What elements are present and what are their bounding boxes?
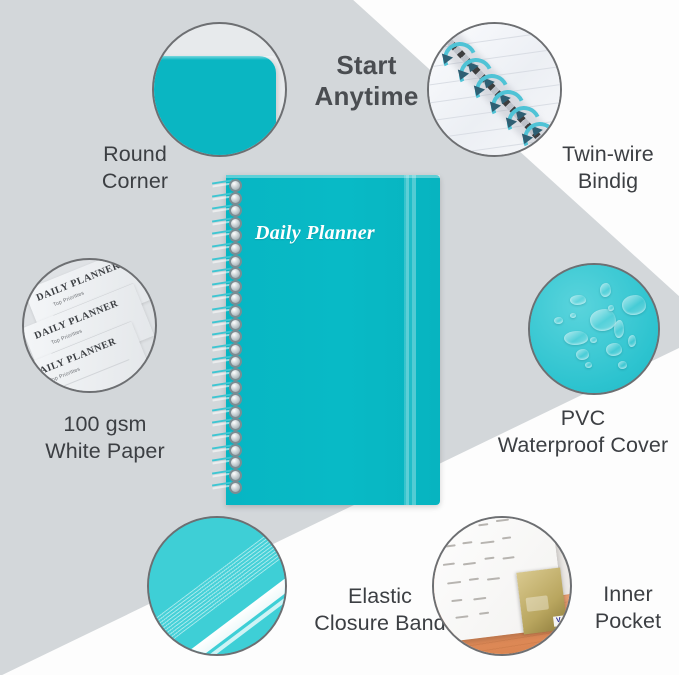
spiral-coil <box>212 255 242 264</box>
spiral-coil <box>212 456 242 465</box>
pocket-card-badge: V <box>553 616 564 627</box>
spiral-coil <box>212 368 242 377</box>
spiral-ring <box>229 330 242 343</box>
feature-label-pvc: PVC Waterproof Cover <box>487 405 679 459</box>
spiral-coil <box>212 204 242 213</box>
spiral-ring <box>229 368 242 381</box>
spiral-ring <box>229 280 242 293</box>
spiral-coil <box>212 343 242 352</box>
spiral-ring <box>229 431 242 444</box>
notebook-cover-title: Daily Planner <box>226 222 404 245</box>
feature-label-twin-wire: Twin-wire Bindig <box>540 141 676 195</box>
spiral-ring <box>229 267 242 280</box>
spiral-ring <box>229 318 242 331</box>
feature-label-pocket: Inner Pocket <box>578 581 678 635</box>
notebook-spiral-binding <box>212 179 242 501</box>
spiral-coil <box>212 267 242 276</box>
spiral-ring <box>229 469 242 482</box>
spiral-coil <box>212 381 242 390</box>
spiral-coil <box>212 192 242 201</box>
spiral-ring <box>229 406 242 419</box>
feature-circle-round-corner <box>152 22 287 157</box>
spiral-ring <box>229 292 242 305</box>
water-droplets-icon <box>530 265 658 393</box>
spiral-ring <box>229 418 242 431</box>
spiral-ring <box>229 305 242 318</box>
feature-label-round-corner: Round Corner <box>75 141 195 195</box>
spiral-coil <box>212 292 242 301</box>
notebook-cover: Daily Planner <box>226 175 440 505</box>
spiral-ring <box>229 456 242 469</box>
spiral-ring <box>229 192 242 205</box>
twin-wire-binding-photo-icon <box>429 24 560 155</box>
spiral-coil <box>212 444 242 453</box>
notebook-elastic-band <box>404 175 416 505</box>
pocket-card: V <box>516 568 567 635</box>
spiral-coil <box>212 355 242 364</box>
product-notebook: Daily Planner <box>212 175 440 505</box>
spiral-ring <box>229 481 242 494</box>
feature-circle-pocket: V <box>432 516 572 656</box>
feature-label-paper: 100 gsm White Paper <box>20 411 190 465</box>
feature-circle-elastic <box>147 516 287 656</box>
feature-circle-pvc <box>528 263 660 395</box>
spiral-ring <box>229 217 242 230</box>
spiral-ring <box>229 444 242 457</box>
spiral-coil <box>212 179 242 188</box>
spiral-ring <box>229 343 242 356</box>
spiral-coil <box>212 229 242 238</box>
feature-circle-twin-wire <box>427 22 562 157</box>
spiral-coil <box>212 330 242 339</box>
spiral-coil <box>212 406 242 415</box>
feature-circle-paper: DAILY PLANNER Top Priorities DAILY PLANN… <box>22 258 157 393</box>
spiral-coil <box>212 418 242 427</box>
spiral-ring <box>229 255 242 268</box>
spiral-coil <box>212 469 242 478</box>
spiral-coil <box>212 481 242 490</box>
spiral-ring <box>229 393 242 406</box>
spiral-ring <box>229 355 242 368</box>
spiral-ring <box>229 229 242 242</box>
spiral-ring <box>229 242 242 255</box>
spiral-ring <box>229 179 242 192</box>
spiral-coil <box>212 217 242 226</box>
spiral-coil <box>212 393 242 402</box>
spiral-ring <box>229 381 242 394</box>
spiral-coil <box>212 318 242 327</box>
heading-start-anytime: Start Anytime <box>300 50 433 112</box>
elastic-band-closeup-icon <box>149 518 285 654</box>
product-infographic: Start Anytime Round Corner Twin-wire Bin… <box>0 0 679 675</box>
spiral-coil <box>212 431 242 440</box>
spiral-coil <box>212 305 242 314</box>
spiral-coil <box>212 280 242 289</box>
spiral-ring <box>229 204 242 217</box>
spiral-coil <box>212 242 242 251</box>
